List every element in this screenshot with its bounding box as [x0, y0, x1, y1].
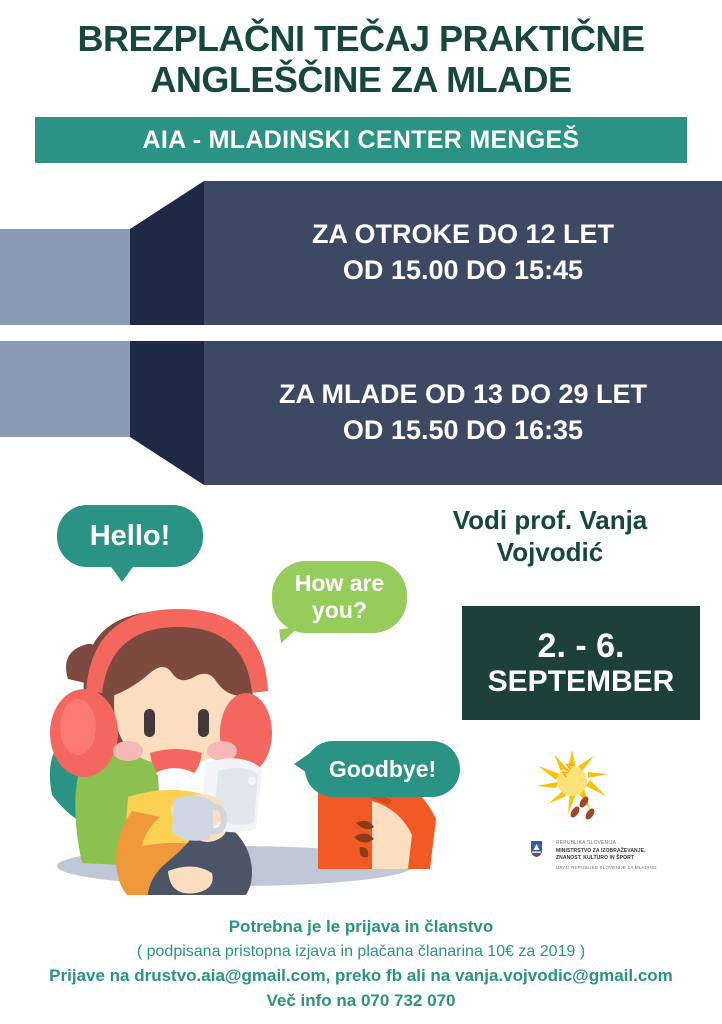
bubble-how-line-1: How are	[295, 570, 384, 597]
title-line-1: BREZPLAČNI TEČAJ PRAKTIČNE	[0, 18, 722, 59]
ribbon-fold-icon	[130, 341, 206, 485]
ministry-sun-logo-icon: AIA	[528, 748, 618, 834]
schedule-ribbon-children: ZA OTROKE DO 12 LET OD 15.00 DO 15:45	[0, 181, 722, 325]
ribbon-line-1: ZA OTROKE DO 12 LET	[312, 217, 614, 253]
ministry-logo-text: REPUBLIKA SLOVENIJA MINISTRSTVO ZA IZOBR…	[556, 840, 706, 870]
ministry-line-4: URAD REPUBLIKE SLOVENIJE ZA MLADINO	[556, 865, 706, 870]
footer-line-2: ( podpisana pristopna izjava in plačana …	[0, 940, 722, 965]
date-box: 2. - 6. SEPTEMBER	[462, 606, 700, 720]
ribbon-body: ZA MLADE OD 13 DO 29 LET OD 15.50 DO 16:…	[204, 341, 722, 485]
subtitle-bar: AIA - MLADINSKI CENTER MENGEŠ	[35, 117, 687, 163]
ribbon-line-2: OD 15.50 DO 16:35	[343, 413, 583, 449]
ministry-line-3: ZNANOST, KULTURO IN ŠPORT	[556, 855, 706, 862]
speech-bubble-goodbye: Goodbye!	[305, 741, 460, 797]
bubble-tail-icon	[294, 753, 310, 775]
footer-line-3: Prijave na drustvo.aia@gmail.com, preko …	[0, 964, 722, 989]
ribbon-line-2: OD 15.00 DO 15:45	[343, 253, 583, 289]
instructor-name: Vodi prof. Vanja Vojvodić	[400, 505, 700, 568]
bubble-tail-icon	[109, 564, 135, 582]
ribbon-tab	[0, 229, 130, 325]
footer-info: Potrebna je le prijava in članstvo ( pod…	[0, 915, 722, 1014]
title-line-2: ANGLEŠČINE ZA MLADE	[0, 59, 722, 100]
ribbon-line-1: ZA MLADE OD 13 DO 29 LET	[279, 377, 647, 413]
date-range: 2. - 6.	[538, 628, 625, 665]
ribbon-body: ZA OTROKE DO 12 LET OD 15.00 DO 15:45	[204, 181, 722, 325]
page-title: BREZPLAČNI TEČAJ PRAKTIČNE ANGLEŠČINE ZA…	[0, 18, 722, 100]
ribbon-fold-icon	[130, 181, 206, 325]
speech-bubble-how-are-you: How are you?	[272, 561, 407, 633]
boy-with-headphones-illustration	[40, 585, 460, 895]
bubble-goodbye-text: Goodbye!	[329, 756, 436, 783]
slovenia-coat-of-arms-icon	[530, 840, 543, 857]
schedule-ribbon-youth: ZA MLADE OD 13 DO 29 LET OD 15.50 DO 16:…	[0, 341, 722, 485]
ministry-line-1: REPUBLIKA SLOVENIJA	[556, 840, 706, 848]
bubble-hello-text: Hello!	[90, 520, 171, 553]
instructor-line-2: Vojvodić	[400, 537, 700, 569]
bubble-tail-icon	[279, 627, 301, 644]
ministry-line-2: MINISTRSTVO ZA IZOBRAŽEVANJE,	[556, 848, 706, 855]
speech-bubble-hello: Hello!	[57, 505, 203, 567]
bubble-how-line-2: you?	[312, 597, 367, 624]
date-month: SEPTEMBER	[488, 665, 675, 698]
footer-line-4: Več info na 070 732 070	[0, 989, 722, 1014]
subtitle-text: AIA - MLADINSKI CENTER MENGEŠ	[143, 126, 580, 155]
instructor-line-1: Vodi prof. Vanja	[400, 505, 700, 537]
ribbon-tab	[0, 341, 130, 437]
footer-line-1: Potrebna je le prijava in članstvo	[0, 915, 722, 940]
poster-root: BREZPLAČNI TEČAJ PRAKTIČNE ANGLEŠČINE ZA…	[0, 0, 722, 1024]
